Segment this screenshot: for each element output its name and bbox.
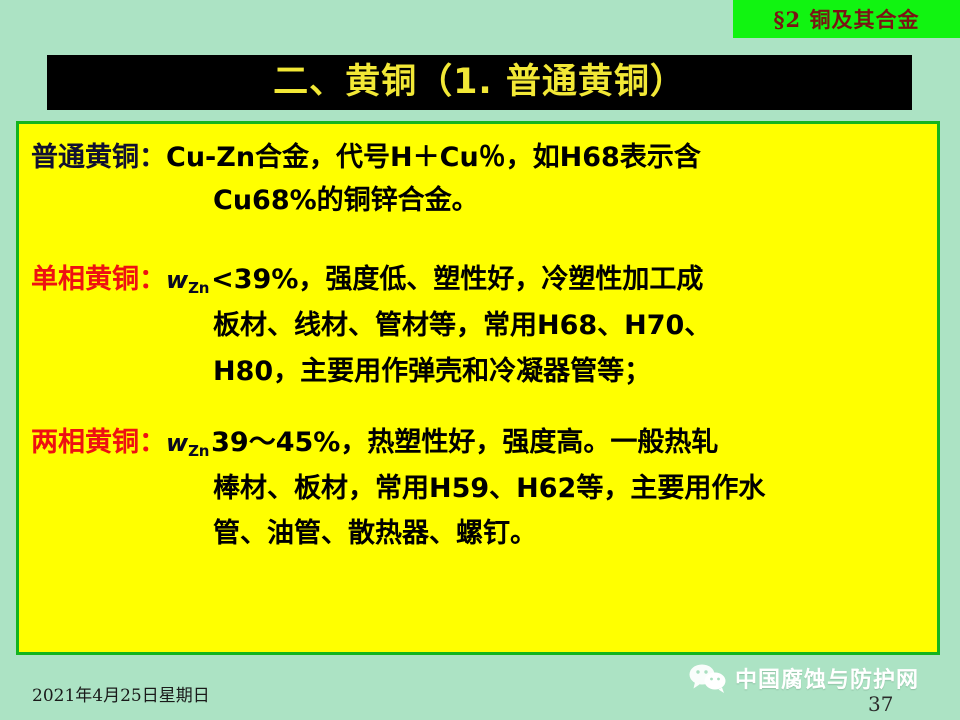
block-continuation-line: 板材、线材、管材等，常用H68、H70、 [213, 308, 921, 344]
symbol-variable: w [166, 429, 188, 457]
block-first-line: <39%，强度低、塑性好，冷塑性加工成 [211, 262, 703, 298]
block-first-line: 39～45%，热塑性好，强度高。一般热轧 [211, 425, 718, 461]
symbol-subscript: Zn [188, 442, 209, 460]
block-label: 单相黄铜： [31, 262, 166, 298]
page-number: 37 [868, 692, 893, 716]
content-block-liangxiang: 两相黄铜： wZn 39～45%，热塑性好，强度高。一般热轧 棒材、板材，常用H… [31, 425, 921, 552]
block-continuation-line: 棒材、板材，常用H59、H62等，主要用作水 [213, 471, 921, 507]
block-label: 普通黄铜： [31, 140, 166, 176]
slide-title-bar: 二、黄铜（1. 普通黄铜） [47, 55, 912, 110]
watermark-label: 中国腐蚀与防护网 [735, 662, 919, 694]
content-block-danxiang: 单相黄铜： wZn <39%，强度低、塑性好，冷塑性加工成 板材、线材、管材等，… [31, 262, 921, 389]
block-continuation-line: H80，主要用作弹壳和冷凝器管等； [213, 354, 921, 390]
content-block-putong: 普通黄铜： Cu-Zn合金，代号H＋Cu％，如H68表示含 Cu68%的铜锌合金… [31, 140, 921, 218]
block-first-line: Cu-Zn合金，代号H＋Cu％，如H68表示含 [166, 140, 701, 176]
chapter-banner-label: §2 铜及其合金 [774, 4, 920, 34]
page-title: 二、黄铜（1. 普通黄铜） [273, 65, 686, 100]
wechat-icon [688, 663, 728, 693]
content-block-heading-line: 两相黄铜： wZn 39～45%，热塑性好，强度高。一般热轧 [31, 425, 921, 461]
content-block-heading-line: 单相黄铜： wZn <39%，强度低、塑性好，冷塑性加工成 [31, 262, 921, 298]
block-continuation-line: 管、油管、散热器、螺钉。 [213, 516, 921, 552]
content-panel: 普通黄铜： Cu-Zn合金，代号H＋Cu％，如H68表示含 Cu68%的铜锌合金… [16, 121, 940, 655]
content-block-heading-line: 普通黄铜： Cu-Zn合金，代号H＋Cu％，如H68表示含 [31, 140, 921, 176]
footer-date: 2021年4月25日星期日 [32, 681, 210, 706]
symbol-variable: w [166, 266, 188, 294]
block-continuation-line: Cu68%的铜锌合金。 [213, 183, 921, 219]
block-label: 两相黄铜： [31, 425, 166, 461]
zinc-fraction-symbol: wZn [166, 428, 211, 460]
chapter-banner: §2 铜及其合金 [733, 0, 960, 38]
symbol-subscript: Zn [188, 279, 209, 297]
watermark: 中国腐蚀与防护网 [688, 662, 919, 694]
slide-canvas: §2 铜及其合金 二、黄铜（1. 普通黄铜） 普通黄铜： Cu-Zn合金，代号H… [0, 0, 960, 720]
zinc-fraction-symbol: wZn [166, 265, 211, 297]
